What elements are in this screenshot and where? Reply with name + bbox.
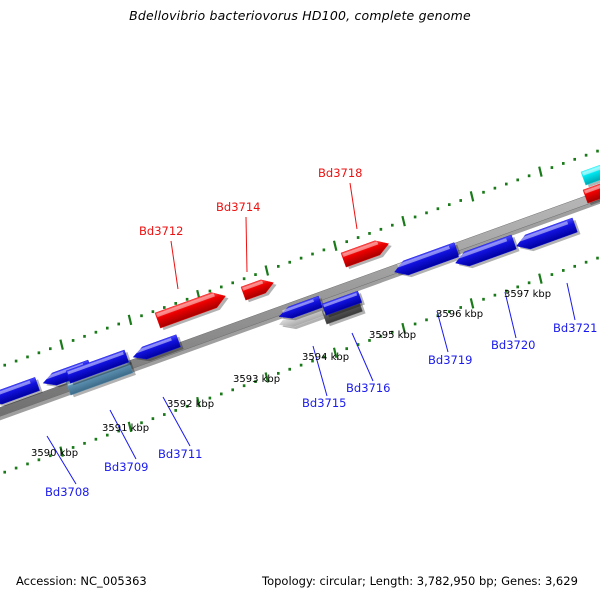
gene-label[interactable]: Bd3709 [104,460,148,474]
gene-leader-line [246,217,247,272]
gene-label[interactable]: Bd3721 [553,321,597,335]
gene-label[interactable]: Bd3711 [158,447,202,461]
gene-leader-line [171,241,178,289]
coordinate-label: 3591 kbp [102,423,149,434]
coordinate-label: 3592 kbp [167,399,214,410]
gene-label[interactable]: Bd3716 [346,381,390,395]
coordinate-label: 3597 kbp [504,289,551,300]
gene-label[interactable]: Bd3712 [139,224,183,238]
gene-leader-line [350,183,357,229]
gene-label[interactable]: Bd3719 [428,353,472,367]
gene-leader-line [567,283,575,320]
gene-layer [0,163,600,411]
gene-glyph[interactable] [392,242,462,282]
coordinate-label: 3595 kbp [369,330,416,341]
genome-diagram: Bd3708Bd3709Bd3711Bd3712Bd3714Bd3715Bd37… [0,0,600,600]
coordinate-label: 3596 kbp [436,309,483,320]
gene-leader-line [47,436,76,484]
gene-label[interactable]: Bd3715 [302,396,346,410]
coordinate-label: 3594 kbp [302,352,349,363]
accession-text: Accession: NC_005363 [16,574,147,588]
gene-label[interactable]: Bd3720 [491,338,535,352]
gene-label[interactable]: Bd3714 [216,200,260,214]
genome-map-canvas: Bdellovibrio bacteriovorus HD100, comple… [0,0,600,600]
gene-glyph[interactable] [341,236,394,270]
gene-leader-line [110,410,136,459]
gene-label[interactable]: Bd3718 [318,166,362,180]
genome-summary-text: Topology: circular; Length: 3,782,950 bp… [262,574,578,588]
gene-glyph[interactable] [155,288,231,331]
gene-glyph[interactable] [241,275,279,303]
coordinate-label: 3590 kbp [31,448,78,459]
coordinate-label: 3593 kbp [233,374,280,385]
gene-label[interactable]: Bd3708 [45,485,89,499]
gene-glyph[interactable] [581,163,600,188]
